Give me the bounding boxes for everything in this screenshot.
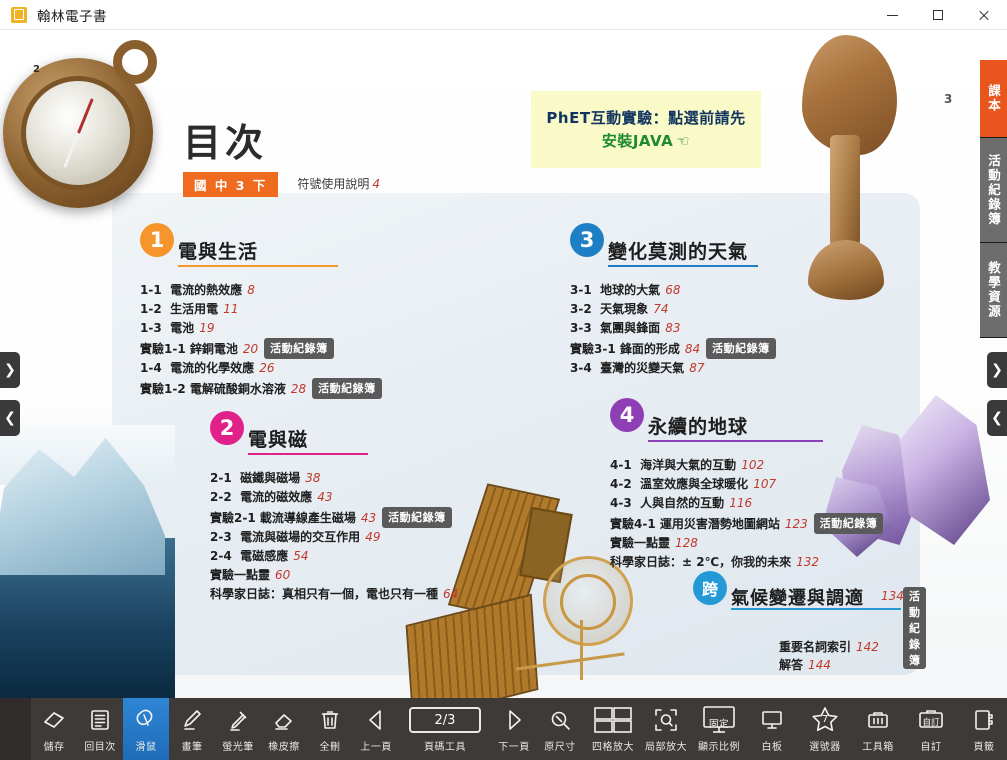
toc-entry-page: 20 <box>243 342 258 356</box>
toc-entry-number: 科學家日誌：± 2℃，你我的未來 <box>610 553 791 572</box>
toc-entry[interactable]: 4-1 海洋與大氣的互動102 <box>610 456 883 475</box>
toc-entry[interactable]: 3-4 臺灣的災變天氣87 <box>570 359 776 378</box>
toolbar-button-prev-page[interactable]: 上一頁 <box>353 698 399 760</box>
toolbar-button-trash[interactable]: 全刪 <box>307 698 353 760</box>
toolbar-button-region-zoom[interactable]: 局部放大 <box>643 698 689 760</box>
toolbar-label: 上一頁 <box>360 738 392 753</box>
toc-entry-page: 87 <box>689 361 704 375</box>
chapter-block-3[interactable]: 3變化莫測的天氣3-1 地球的大氣683-2 天氣現象743-3 氣團與鋒面83… <box>570 235 776 378</box>
toolbar-label: 原尺寸 <box>544 738 576 753</box>
toc-entry-number: 1-4 <box>140 359 166 378</box>
toc-entry-text: 鋒面的形成 <box>616 342 680 356</box>
chapter-block-1[interactable]: 1電與生活1-1 電流的熱效應81-2 生活用電111-3 電池19實驗1-1 … <box>140 235 382 399</box>
toc-entry-text: 地球的大氣 <box>596 283 660 297</box>
toc-entry[interactable]: 4-2 溫室效應與全球暖化107 <box>610 475 883 494</box>
toolbar-button-next-page[interactable]: 下一頁 <box>491 698 537 760</box>
chapter-entry-list: 3-1 地球的大氣683-2 天氣現象743-3 氣團與鋒面83實驗3-1 鋒面… <box>570 281 776 378</box>
toc-entry-page: 26 <box>259 361 274 375</box>
next-page-icon <box>501 704 527 736</box>
cross-discipline-rule <box>731 608 901 610</box>
backmatter-page: 144 <box>808 658 831 672</box>
toc-entry-number: 4-1 <box>610 456 636 475</box>
activity-record-tag[interactable]: 活動紀錄簿 <box>706 338 776 359</box>
cross-discipline-title: 氣候變遷與調適 <box>731 584 864 610</box>
toc-entry-page: 64 <box>443 587 458 601</box>
toolbar-label: 局部放大 <box>645 738 687 753</box>
toc-entry-text: 氣團與鋒面 <box>596 321 660 335</box>
chapter-title[interactable]: 電與生活 <box>178 237 258 264</box>
toc-entry-page: 11 <box>223 302 238 316</box>
toolbar-button-pen[interactable]: 畫筆 <box>169 698 215 760</box>
minimize-button[interactable] <box>869 0 915 30</box>
edge-nav-right-prev[interactable]: ❮ <box>987 400 1007 436</box>
toc-entry-page: 132 <box>796 555 819 569</box>
whiteboard-icon <box>759 704 785 736</box>
toc-entry-number: 4-2 <box>610 475 636 494</box>
toc-entry[interactable]: 實驗3-1 鋒面的形成84活動紀錄簿 <box>570 338 776 359</box>
toc-entry-page: 8 <box>247 283 255 297</box>
toc-entry-number: 1-2 <box>140 300 166 319</box>
minimize-icon <box>887 15 898 16</box>
toc-entry-number: 實驗1-1 <box>140 340 186 359</box>
chapter-number-badge: 1 <box>140 223 174 257</box>
backmatter-entry[interactable]: 重要名詞索引142 <box>779 638 879 656</box>
chapter-rule <box>648 440 823 442</box>
window-title: 翰林電子書 <box>37 5 107 25</box>
toolbar-label: 螢光筆 <box>222 738 254 753</box>
chapter-number-badge: 3 <box>570 223 604 257</box>
star-picker-icon: 7 <box>810 704 840 736</box>
phet-notice-java-label: 安裝JAVA <box>602 130 673 153</box>
toc-entry-text: 運用災害潛勢地圖網站 <box>656 517 780 531</box>
toc-entry[interactable]: 實驗2-1 載流導線產生磁場43活動紀錄簿 <box>210 507 458 528</box>
toolbar-button-bookmark-tab[interactable]: 頁籤 <box>961 698 1007 760</box>
chapter-title[interactable]: 變化莫測的天氣 <box>608 237 748 264</box>
toc-entry[interactable]: 實驗1-2 電解硫酸銅水溶液28活動紀錄簿 <box>140 378 382 399</box>
toc-entry-text: 鋅銅電池 <box>186 342 238 356</box>
toc-entry[interactable]: 1-4 電流的化學效應26 <box>140 359 382 378</box>
chapter-number-badge: 4 <box>610 398 644 432</box>
toc-entry-number: 科學家日誌：真相只有一個，電也只有一種 <box>210 585 438 604</box>
pointing-hand-icon: ☜ <box>676 130 690 153</box>
activity-record-tag[interactable]: 活動紀錄簿 <box>814 513 884 534</box>
chapter-entry-list: 1-1 電流的熱效應81-2 生活用電111-3 電池19實驗1-1 鋅銅電池2… <box>140 281 382 399</box>
toolbar-label: 下一頁 <box>498 738 530 753</box>
toolbar-label: 頁碼工具 <box>424 738 466 753</box>
toc-entry-page: 43 <box>317 490 332 504</box>
toc-entry[interactable]: 實驗4-1 運用災害潛勢地圖網站123活動紀錄簿 <box>610 513 883 534</box>
highlighter-icon <box>225 704 251 736</box>
toolbar-button-toolbox[interactable]: 工具箱 <box>855 698 901 760</box>
phet-notice-line2: 安裝JAVA ☜ <box>602 130 690 153</box>
toc-entry-page: 128 <box>675 536 698 550</box>
toc-entry-number: 實驗4-1 <box>610 515 656 534</box>
toc-entry-text: 天氣現象 <box>596 302 648 316</box>
grade-badge: 國 中 3 下 <box>183 172 278 197</box>
window-title-bar: 翰林電子書 <box>0 0 1007 30</box>
custom-icon: 自訂 <box>916 704 946 736</box>
toc-entry-number: 2-4 <box>210 547 236 566</box>
toc-entry[interactable]: 實驗1-1 鋅銅電池20活動紀錄簿 <box>140 338 382 359</box>
toc-entry-page: 38 <box>305 471 320 485</box>
chapter-rule <box>178 265 338 267</box>
toc-entry[interactable]: 2-1 磁鐵與磁場38 <box>210 469 458 488</box>
chapter-head-2: 2電與磁 <box>210 423 458 461</box>
backmatter-list[interactable]: 重要名詞索引142解答144 <box>779 638 879 674</box>
toc-entry[interactable]: 實驗一點靈60 <box>210 566 458 585</box>
chapter-title[interactable]: 電與磁 <box>248 425 308 452</box>
edge-nav-left-prev[interactable]: ❮ <box>0 400 20 436</box>
toolbar-button-contents-list[interactable]: 回目次 <box>77 698 123 760</box>
toc-entry-page: 74 <box>653 302 668 316</box>
toc-entry-number: 3-2 <box>570 300 596 319</box>
toc-entry-text: 電解硫酸銅水溶液 <box>186 382 286 396</box>
toolbar-label: 橡皮擦 <box>268 738 300 753</box>
toc-entry-page: 43 <box>361 511 376 525</box>
toc-entry[interactable]: 1-3 電池19 <box>140 319 382 338</box>
toc-entry-page: 54 <box>293 549 308 563</box>
toc-entry[interactable]: 3-2 天氣現象74 <box>570 300 776 319</box>
toc-entry[interactable]: 實驗一點靈128 <box>610 534 883 553</box>
toolbar-button-eraser[interactable]: 橡皮擦 <box>261 698 307 760</box>
toc-entry-number: 1-1 <box>140 281 166 300</box>
toc-entry-text: 人與自然的互動 <box>636 496 724 510</box>
edge-nav-left-next[interactable]: ❯ <box>0 352 20 388</box>
backmatter-entry[interactable]: 解答144 <box>779 656 879 674</box>
toolbar-label: 顯示比例 <box>698 738 740 753</box>
toc-entry-page: 49 <box>365 530 380 544</box>
chapter-head-1: 1電與生活 <box>140 235 382 273</box>
toc-entry[interactable]: 4-3 人與自然的互動116 <box>610 494 883 513</box>
toolbar-button-highlighter[interactable]: 螢光筆 <box>215 698 261 760</box>
toolbar-button-actual-size[interactable]: 原尺寸 <box>537 698 583 760</box>
toc-entry-number: 1-3 <box>140 319 166 338</box>
toc-entry-page: 83 <box>665 321 680 335</box>
toc-entry-text: 電池 <box>166 321 194 335</box>
toc-entry[interactable]: 2-2 電流的磁效應43 <box>210 488 458 507</box>
toolbar-label: 四格放大 <box>592 738 634 753</box>
side-tab-teaching-resources[interactable]: 教學資源 <box>980 243 1007 338</box>
symbol-usage-page: 4 <box>372 177 380 191</box>
toc-entry[interactable]: 3-1 地球的大氣68 <box>570 281 776 300</box>
region-zoom-icon <box>653 704 679 736</box>
toc-entry[interactable]: 科學家日誌：真相只有一個，電也只有一種64 <box>210 585 458 604</box>
toc-entry-page: 84 <box>685 342 700 356</box>
toc-entry-page: 19 <box>199 321 214 335</box>
toc-entry-text: 臺灣的災變天氣 <box>596 361 684 375</box>
toolbar-left-cap <box>0 698 31 760</box>
backmatter-page: 142 <box>856 640 879 654</box>
page-number-box: 2/3 <box>409 704 481 736</box>
cross-discipline-tag[interactable]: 活動紀錄簿 <box>903 587 926 669</box>
toc-entry-number: 實驗3-1 <box>570 340 616 359</box>
toc-entry[interactable]: 1-1 電流的熱效應8 <box>140 281 382 300</box>
toolbar-label: 儲存 <box>44 738 65 753</box>
contents-list-icon <box>87 704 113 736</box>
toc-entry-text: 電流的化學效應 <box>166 361 254 375</box>
chapter-head-4: 4永續的地球 <box>610 410 883 448</box>
chapter-entry-list: 4-1 海洋與大氣的互動1024-2 溫室效應與全球暖化1074-3 人與自然的… <box>610 456 883 572</box>
toc-entry-number: 3-4 <box>570 359 596 378</box>
toc-entry-page: 107 <box>753 477 776 491</box>
toc-entry-number: 2-3 <box>210 528 236 547</box>
toolbar-button-page-number-box[interactable]: 2/3頁碼工具 <box>399 698 491 760</box>
toc-entry-page: 123 <box>785 517 808 531</box>
toolbar-label: 選號器 <box>809 738 841 753</box>
toc-entry-text: 電磁感應 <box>236 549 288 563</box>
toc-entry-number: 實驗2-1 <box>210 509 256 528</box>
toolbar-label: 工具箱 <box>862 738 894 753</box>
toc-entry-page: 60 <box>275 568 290 582</box>
backmatter-label: 重要名詞索引 <box>779 640 851 654</box>
bookmark-tab-icon <box>971 704 997 736</box>
close-icon <box>978 9 990 21</box>
toc-entry[interactable]: 1-2 生活用電11 <box>140 300 382 319</box>
toc-entry-text: 電流的熱效應 <box>166 283 242 297</box>
chapter-block-2[interactable]: 2電與磁2-1 磁鐵與磁場382-2 電流的磁效應43實驗2-1 載流導線產生磁… <box>210 423 458 604</box>
toolbar-button-display-ratio[interactable]: 固定顯示比例 <box>689 698 749 760</box>
side-tab-activity-record[interactable]: 活動紀錄簿 <box>980 138 1007 243</box>
phet-notice-line1: PhET互動實驗：點選前請先 <box>546 107 745 130</box>
toolbar-label: 頁籤 <box>974 738 995 753</box>
toc-entry-text: 電流與磁場的交互作用 <box>236 530 360 544</box>
chapter-head-3: 3變化莫測的天氣 <box>570 235 776 273</box>
toc-entry-text: 溫室效應與全球暖化 <box>636 477 748 491</box>
toolbar-label: 全刪 <box>320 738 341 753</box>
toc-entry-number: 實驗1-2 <box>140 380 186 399</box>
toc-header: 目次 國 中 3 下 符號使用說明4 <box>183 124 380 197</box>
toolbox-icon <box>865 704 891 736</box>
toc-entry-page: 28 <box>291 382 306 396</box>
toc-entry[interactable]: 2-3 電流與磁場的交互作用49 <box>210 528 458 547</box>
toc-entry-page: 68 <box>665 283 680 297</box>
display-ratio-icon: 固定 <box>702 704 736 736</box>
chapter-block-4[interactable]: 4永續的地球4-1 海洋與大氣的互動1024-2 溫室效應與全球暖化1074-3… <box>610 410 883 572</box>
toolbar-button-custom[interactable]: 自訂自訂 <box>901 698 961 760</box>
activity-record-tag[interactable]: 活動紀錄簿 <box>382 507 452 528</box>
maximize-icon <box>933 10 943 20</box>
backmatter-label: 解答 <box>779 658 803 672</box>
bottom-toolbar[interactable]: 儲存回目次滑鼠畫筆螢光筆橡皮擦全刪上一頁2/3頁碼工具下一頁原尺寸四格放大局部放… <box>0 698 1007 760</box>
toc-entry-number: 實驗一點靈 <box>210 566 270 585</box>
toc-entry-number: 4-3 <box>610 494 636 513</box>
toolbar-label: 回目次 <box>84 738 116 753</box>
toolbar-items[interactable]: 儲存回目次滑鼠畫筆螢光筆橡皮擦全刪上一頁2/3頁碼工具下一頁原尺寸四格放大局部放… <box>31 698 1007 760</box>
save-icon <box>41 704 67 736</box>
toolbar-label: 滑鼠 <box>136 738 157 753</box>
actual-size-icon <box>547 704 573 736</box>
toolbar-label: 自訂 <box>921 738 942 753</box>
book-viewer[interactable]: 2 3 目次 國 中 3 下 符號使用說明4 PhET互動實驗：點選前請先 安裝… <box>0 30 1007 698</box>
chapter-rule <box>248 453 368 455</box>
chapter-title[interactable]: 永續的地球 <box>648 412 748 439</box>
window-controls <box>869 0 1007 30</box>
edge-nav-right-next[interactable]: ❯ <box>987 352 1007 388</box>
side-tab-group[interactable]: 課本 活動紀錄簿 教學資源 <box>980 60 1007 338</box>
toc-entry-page: 116 <box>729 496 752 510</box>
toc-entry-text: 生活用電 <box>166 302 218 316</box>
toolbar-button-star-picker[interactable]: 7選號器 <box>795 698 855 760</box>
toc-entry-text: 磁鐵與磁場 <box>236 471 300 485</box>
chapter-entry-list: 2-1 磁鐵與磁場382-2 電流的磁效應43實驗2-1 載流導線產生磁場43活… <box>210 469 458 604</box>
toc-entry-number: 實驗一點靈 <box>610 534 670 553</box>
toolbar-label: 畫筆 <box>182 738 203 753</box>
toolbar-label: 白板 <box>762 738 783 753</box>
toc-entry-text: 海洋與大氣的互動 <box>636 458 736 472</box>
toc-entry-number: 3-1 <box>570 281 596 300</box>
trash-icon <box>317 704 343 736</box>
symbol-usage-note[interactable]: 符號使用說明4 <box>297 175 380 192</box>
toc-entry[interactable]: 3-3 氣團與鋒面83 <box>570 319 776 338</box>
mouse-icon <box>133 704 159 736</box>
maximize-button[interactable] <box>915 0 961 30</box>
toc-entry-number: 3-3 <box>570 319 596 338</box>
activity-record-tag[interactable]: 活動紀錄簿 <box>312 378 382 399</box>
activity-record-tag[interactable]: 活動紀錄簿 <box>264 338 334 359</box>
close-button[interactable] <box>961 0 1007 30</box>
toolbar-button-mouse[interactable]: 滑鼠 <box>123 698 169 760</box>
toc-entry-number: 2-2 <box>210 488 236 507</box>
symbol-usage-label: 符號使用說明 <box>297 177 369 191</box>
phet-notice: PhET互動實驗：點選前請先 安裝JAVA ☜ <box>531 91 761 168</box>
toc-entry[interactable]: 2-4 電磁感應54 <box>210 547 458 566</box>
chapter-rule <box>608 265 758 267</box>
cross-discipline-badge: 跨 <box>693 571 727 605</box>
quad-zoom-icon <box>593 704 633 736</box>
prev-page-icon <box>363 704 389 736</box>
app-icon <box>11 7 27 23</box>
page-indicator[interactable]: 2/3 <box>409 707 481 733</box>
toc-entry[interactable]: 科學家日誌：± 2℃，你我的未來132 <box>610 553 883 572</box>
toc-entry-page: 102 <box>741 458 764 472</box>
eraser-icon <box>271 704 297 736</box>
page-title: 目次 <box>183 124 380 162</box>
toc-entry-text: 載流導線產生磁場 <box>256 511 356 525</box>
cross-discipline-page: 134 <box>881 589 904 603</box>
chapter-number-badge: 2 <box>210 411 244 445</box>
toolbar-button-save[interactable]: 儲存 <box>31 698 77 760</box>
toolbar-button-whiteboard[interactable]: 白板 <box>749 698 795 760</box>
toc-entry-text: 電流的磁效應 <box>236 490 312 504</box>
side-tab-textbook[interactable]: 課本 <box>980 60 1007 138</box>
toc-entry-number: 2-1 <box>210 469 236 488</box>
page-number: 3 <box>944 92 952 106</box>
toolbar-button-quad-zoom[interactable]: 四格放大 <box>583 698 643 760</box>
pen-icon <box>179 704 205 736</box>
